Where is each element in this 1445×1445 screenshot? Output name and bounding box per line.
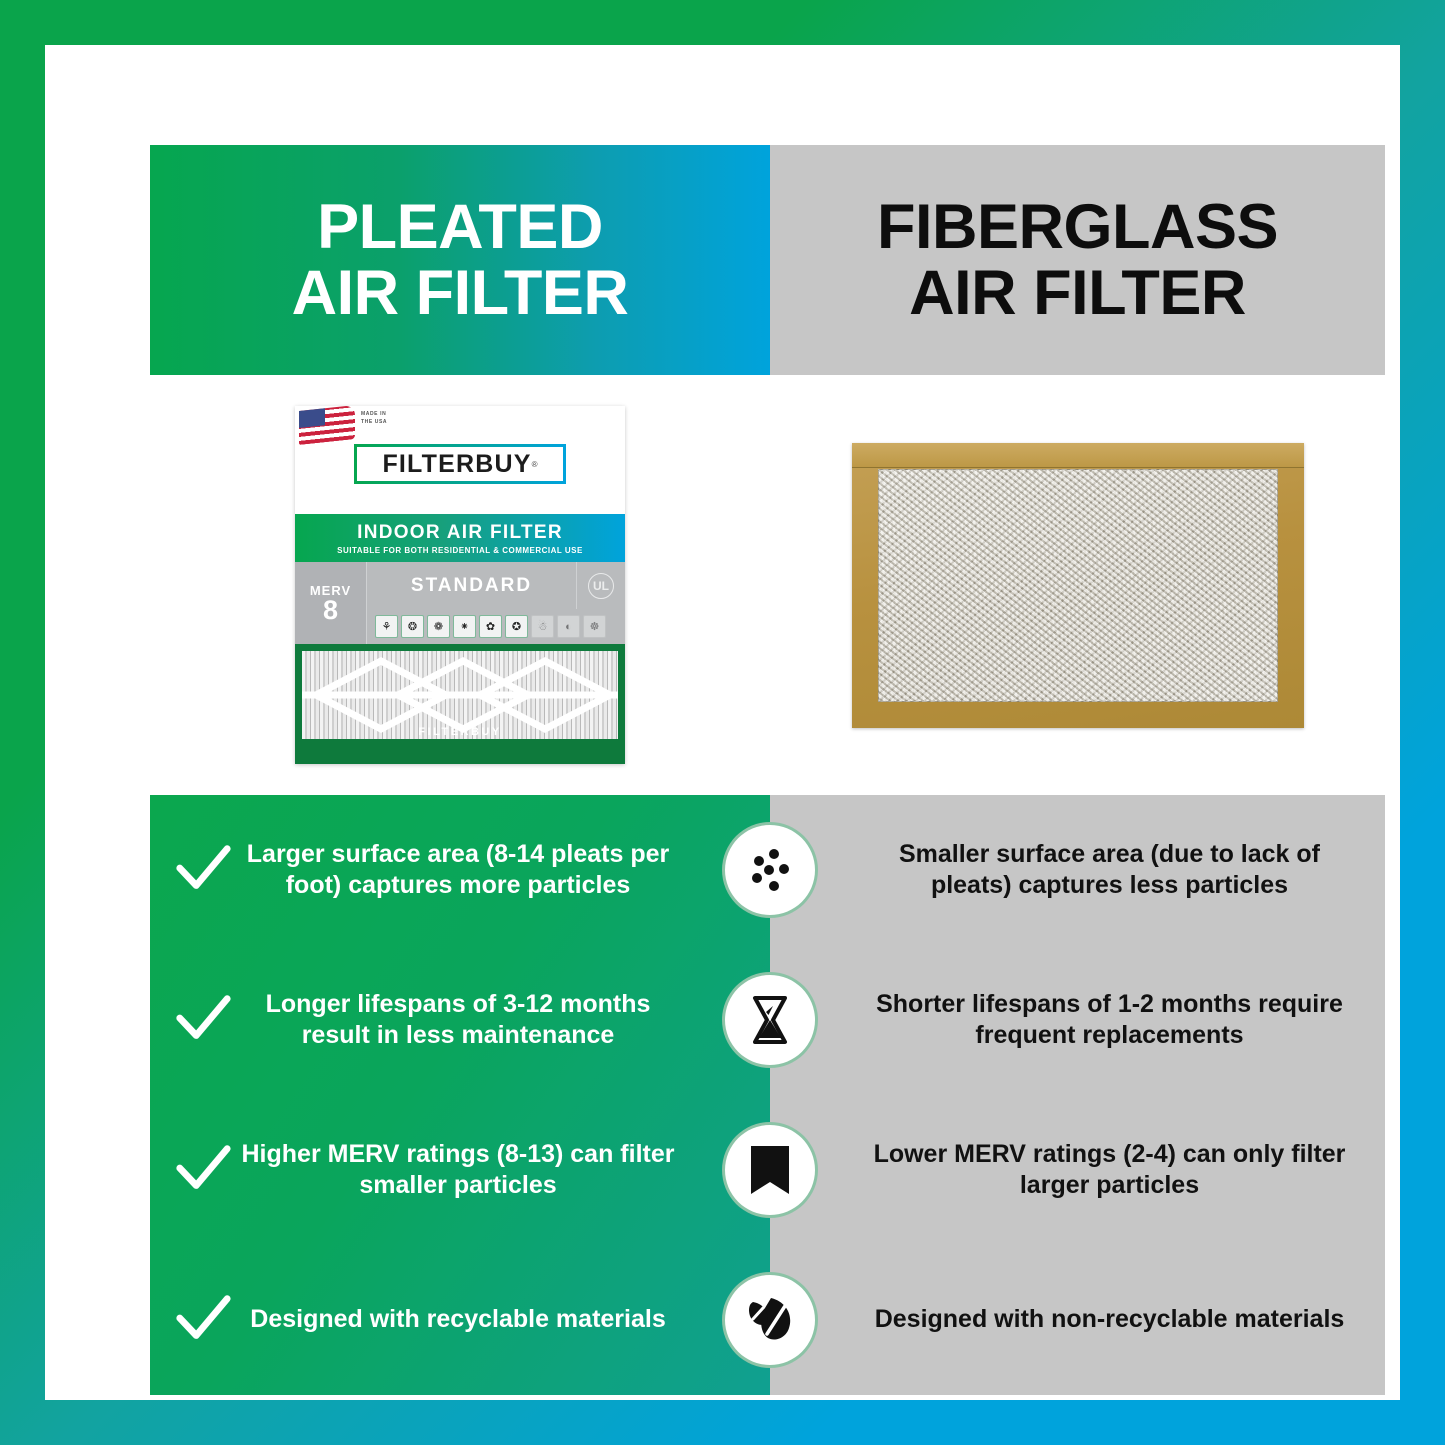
checkmark-icon	[172, 1139, 234, 1201]
product-band: MADE INTHE USA FILTERBUY® INDOOR AIR FIL…	[150, 375, 1385, 795]
package-footer-brand: FILTERBUY	[418, 726, 501, 738]
product-cell-pleated: MADE INTHE USA FILTERBUY® INDOOR AIR FIL…	[150, 375, 770, 795]
checkmark-icon	[172, 1289, 234, 1351]
merv-badge: MERV 8	[295, 562, 367, 644]
bookmark-icon	[722, 1122, 818, 1218]
comparison-text-fiberglass: Designed with non-recyclable materials	[875, 1304, 1345, 1336]
comparison-cell-pleated: Higher MERV ratings (8-13) can filter sm…	[150, 1095, 770, 1245]
comparison-cell-pleated: Longer lifespans of 3-12 months result i…	[150, 945, 770, 1095]
header-fiberglass-line1: FIBERGLASS	[877, 192, 1278, 262]
comparison-table: Larger surface area (8-14 pleats per foo…	[150, 795, 1385, 1395]
infographic-frame: PLEATED AIR FILTER FIBERGLASS AIR FILTER…	[45, 45, 1400, 1400]
header-band: PLEATED AIR FILTER FIBERGLASS AIR FILTER	[150, 145, 1385, 375]
pet-dander-icon: ✪	[505, 615, 528, 638]
particles-icon	[722, 822, 818, 918]
comparison-text-fiberglass: Smaller surface area (due to lack of ple…	[860, 839, 1359, 902]
certification-cell: UL	[577, 562, 625, 609]
product-cell-fiberglass	[770, 375, 1385, 795]
table-row: Higher MERV ratings (8-13) can filter sm…	[150, 1095, 1385, 1245]
merv-value: 8	[323, 598, 338, 624]
comparison-text-pleated: Longer lifespans of 3-12 months result i…	[234, 989, 686, 1052]
odor-icon: ◐	[557, 615, 580, 638]
comparison-cell-fiberglass: Smaller surface area (due to lack of ple…	[770, 795, 1385, 945]
pleated-media-window: FILTERBUY	[295, 644, 625, 764]
table-row: Designed with recyclable materials Desig…	[150, 1245, 1385, 1395]
comparison-sheet: PLEATED AIR FILTER FIBERGLASS AIR FILTER…	[150, 145, 1385, 1395]
made-in-usa-label: MADE INTHE USA	[361, 411, 387, 426]
package-top: MADE INTHE USA FILTERBUY®	[295, 406, 625, 514]
package-band: INDOOR AIR FILTER SUITABLE FOR BOTH RESI…	[295, 514, 625, 562]
bacteria-icon: ✿	[479, 615, 502, 638]
capability-icon-strip: ⚘ ❂ ❁ ⁕ ✿ ✪ ☃ ◐ ☸	[367, 609, 625, 644]
virus-icon: ☸	[583, 615, 606, 638]
comparison-text-pleated: Designed with recyclable materials	[234, 1304, 686, 1336]
header-fiberglass: FIBERGLASS AIR FILTER	[770, 145, 1385, 375]
brand-name: FILTERBUY	[382, 450, 531, 479]
comparison-cell-pleated: Larger surface area (8-14 pleats per foo…	[150, 795, 770, 945]
header-fiberglass-line2: AIR FILTER	[909, 258, 1246, 328]
dust-lint-icon: ⚘	[375, 615, 398, 638]
pleated-filter-package: MADE INTHE USA FILTERBUY® INDOOR AIR FIL…	[295, 406, 625, 764]
header-fiberglass-title: FIBERGLASS AIR FILTER	[877, 194, 1278, 326]
package-band-subtitle: SUITABLE FOR BOTH RESIDENTIAL & COMMERCI…	[337, 546, 583, 555]
ul-certification-icon: UL	[588, 573, 614, 599]
comparison-rows: Larger surface area (8-14 pleats per foo…	[150, 795, 1385, 1395]
mold-icon: ❁	[427, 615, 450, 638]
package-tier: STANDARD	[367, 562, 577, 609]
comparison-cell-fiberglass: Lower MERV ratings (2-4) can only filter…	[770, 1095, 1385, 1245]
comparison-text-pleated: Larger surface area (8-14 pleats per foo…	[234, 839, 686, 902]
checkmark-icon	[172, 839, 234, 901]
header-pleated-line1: PLEATED	[317, 192, 603, 262]
header-pleated-title: PLEATED AIR FILTER	[292, 194, 629, 326]
comparison-text-pleated: Higher MERV ratings (8-13) can filter sm…	[234, 1139, 686, 1202]
table-row: Longer lifespans of 3-12 months result i…	[150, 945, 1385, 1095]
checkmark-icon	[172, 989, 234, 1051]
dust-mites-icon: ⁕	[453, 615, 476, 638]
package-band-title: INDOOR AIR FILTER	[357, 522, 563, 544]
fiberglass-mesh	[878, 469, 1278, 702]
brand-trademark: ®	[532, 460, 538, 469]
comparison-cell-pleated: Designed with recyclable materials	[150, 1245, 770, 1395]
comparison-cell-fiberglass: Shorter lifespans of 1-2 months require …	[770, 945, 1385, 1095]
pollen-icon: ❂	[401, 615, 424, 638]
leaf-icon	[722, 1272, 818, 1368]
package-spec-area: STANDARD UL MERV 8 ⚘ ❂ ❁	[295, 562, 625, 644]
comparison-text-fiberglass: Lower MERV ratings (2-4) can only filter…	[860, 1139, 1359, 1202]
hourglass-icon	[722, 972, 818, 1068]
comparison-cell-fiberglass: Designed with non-recyclable materials	[770, 1245, 1385, 1395]
smoke-icon: ☃	[531, 615, 554, 638]
header-pleated-line2: AIR FILTER	[292, 258, 629, 328]
fiberglass-filter-image	[852, 443, 1304, 728]
usa-flag-icon	[299, 406, 355, 445]
header-pleated: PLEATED AIR FILTER	[150, 145, 770, 375]
comparison-text-fiberglass: Shorter lifespans of 1-2 months require …	[860, 989, 1359, 1052]
brand-logo-box: FILTERBUY®	[354, 444, 566, 484]
table-row: Larger surface area (8-14 pleats per foo…	[150, 795, 1385, 945]
